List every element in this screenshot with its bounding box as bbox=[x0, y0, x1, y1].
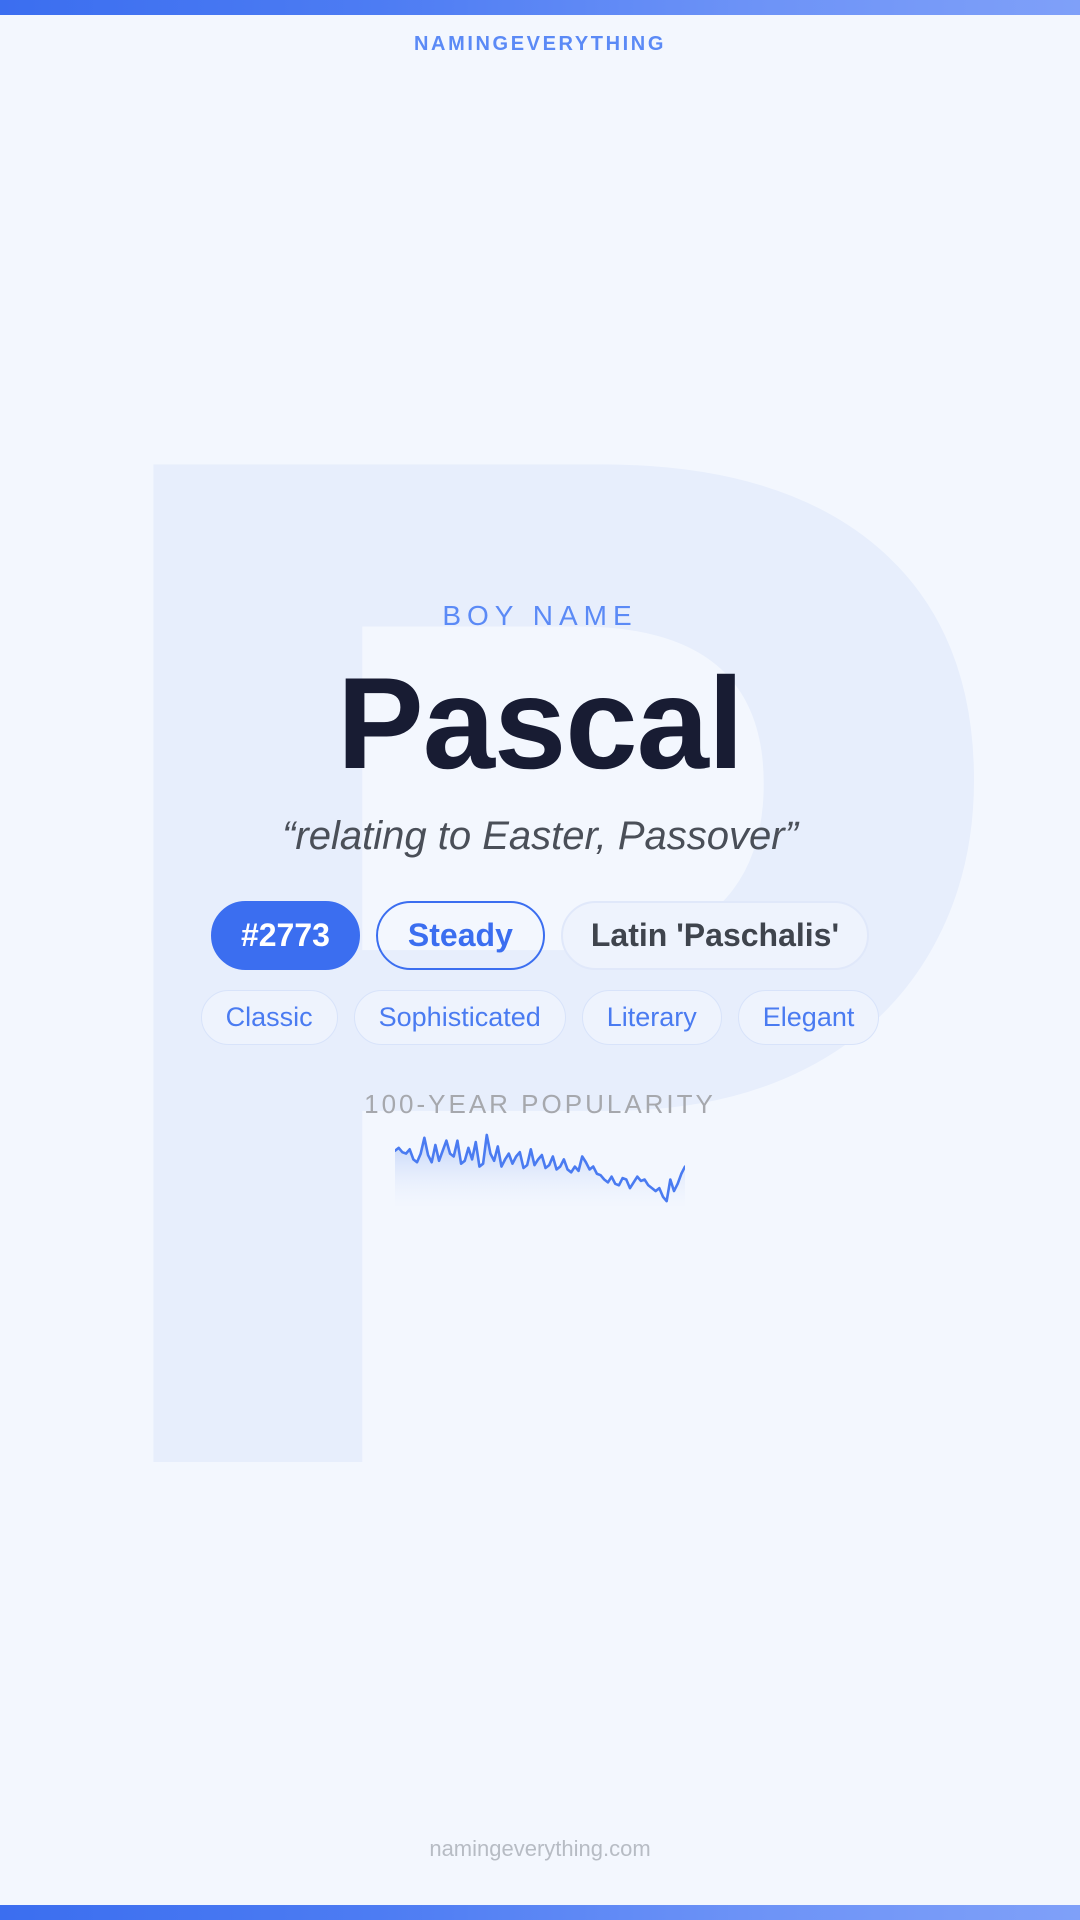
name-card: BOY NAME Pascal “relating to Easter, Pas… bbox=[130, 600, 950, 1206]
bottom-accent-bar bbox=[0, 1905, 1080, 1920]
sparkline-svg bbox=[395, 1128, 685, 1206]
name-meaning: “relating to Easter, Passover” bbox=[130, 814, 950, 859]
origin-badge[interactable]: Latin 'Paschalis' bbox=[561, 901, 869, 970]
trait-tag-elegant[interactable]: Elegant bbox=[738, 990, 880, 1045]
trait-tag-sophisticated[interactable]: Sophisticated bbox=[354, 990, 566, 1045]
trait-tag-row: Classic Sophisticated Literary Elegant bbox=[130, 990, 950, 1045]
sparkline-area bbox=[395, 1135, 685, 1206]
trait-tag-literary[interactable]: Literary bbox=[582, 990, 722, 1045]
footer-url: namingeverything.com bbox=[0, 1836, 1080, 1862]
page-title: Pascal bbox=[130, 658, 950, 788]
gender-label: BOY NAME bbox=[130, 600, 950, 632]
popularity-sparkline-chart bbox=[395, 1128, 685, 1206]
trait-tag-classic[interactable]: Classic bbox=[201, 990, 338, 1045]
popularity-label: 100-YEAR POPULARITY bbox=[130, 1089, 950, 1120]
brand-wordmark: NAMINGEVERYTHING bbox=[0, 33, 1080, 56]
primary-badge-row: #2773 Steady Latin 'Paschalis' bbox=[130, 901, 950, 970]
trend-badge[interactable]: Steady bbox=[376, 901, 545, 970]
top-accent-bar bbox=[0, 0, 1080, 15]
rank-badge[interactable]: #2773 bbox=[211, 901, 360, 970]
